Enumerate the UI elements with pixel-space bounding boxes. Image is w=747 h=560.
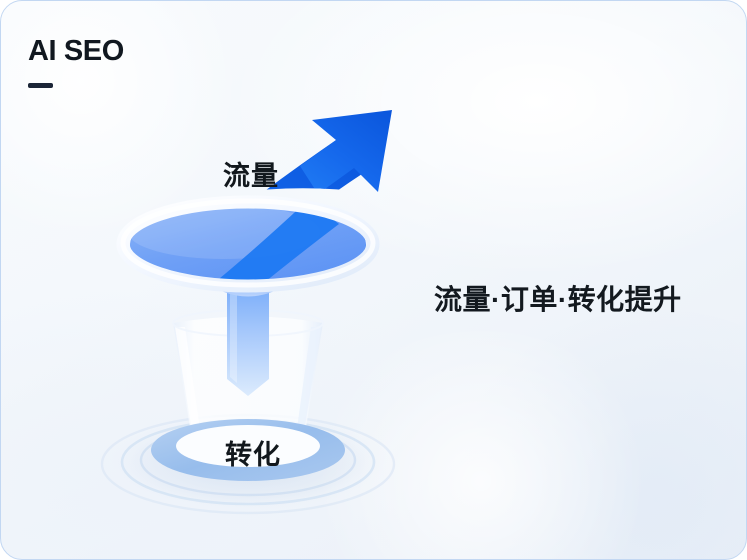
title-underline-rule [28,83,53,88]
funnel-stem-highlight [230,288,237,383]
page-title: AI SEO [28,37,328,66]
background-glow-bottom-right [446,309,747,560]
funnel-label-traffic: 流量 [223,154,279,193]
funnel-label-conversion: 转化 [225,433,281,472]
illustration-canvas: AI SEO [0,0,747,560]
tagline-text: 流量·订单·转化提升 [434,278,682,318]
brand-block: AI SEO [28,37,328,88]
